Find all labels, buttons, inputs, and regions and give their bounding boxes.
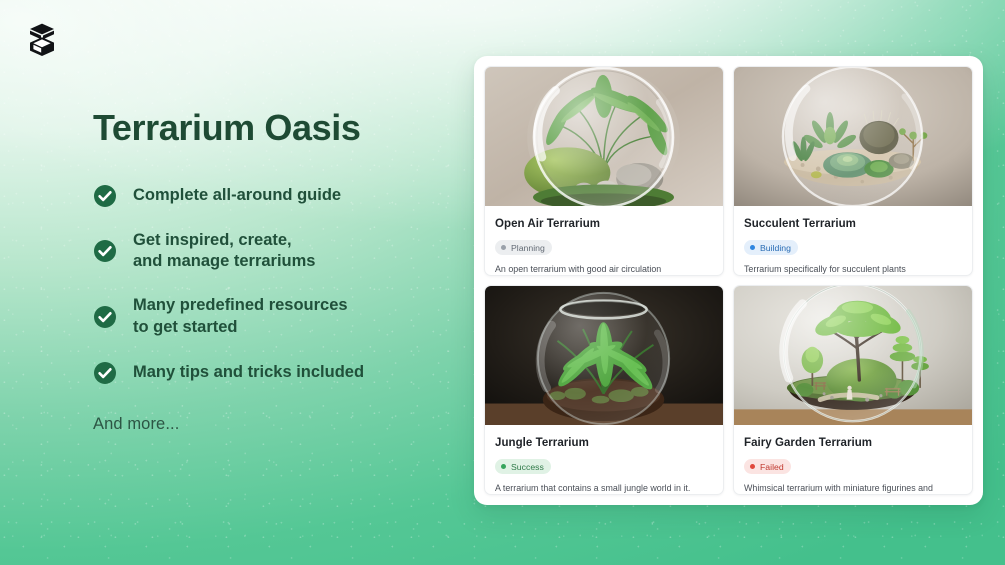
status-label: Failed xyxy=(760,462,784,472)
status-row: Failed xyxy=(744,456,962,474)
status-label: Building xyxy=(760,243,791,253)
stacked-box-logo xyxy=(27,23,57,57)
card-body: Fairy Garden Terrarium Failed Whimsical … xyxy=(734,428,972,495)
status-row: Success xyxy=(495,456,713,474)
succulent-terrarium-photo xyxy=(734,67,972,209)
card-description: Whimsical terrarium with miniature figur… xyxy=(744,482,962,495)
feature-label: Complete all-around guide xyxy=(133,185,341,207)
check-circle-icon xyxy=(93,305,117,329)
feature-item-1: Complete all-around guide xyxy=(93,184,453,208)
slide-canvas: Terrarium Oasis Complete all-around guid… xyxy=(0,0,1005,565)
card-title: Fairy Garden Terrarium xyxy=(744,437,962,449)
status-dot-icon xyxy=(501,245,506,250)
feature-item-2: Get inspired, create, and manage terrari… xyxy=(93,230,453,274)
fairy-garden-terrarium-photo xyxy=(734,286,972,428)
card-description: Terrarium specifically for succulent pla… xyxy=(744,263,962,275)
status-row: Building xyxy=(744,237,962,255)
status-dot-icon xyxy=(750,245,755,250)
terrarium-cards-panel: Open Air Terrarium Planning An open terr… xyxy=(474,56,983,505)
page-title: Terrarium Oasis xyxy=(93,108,453,148)
card-body: Succulent Terrarium Building Terrarium s… xyxy=(734,209,972,276)
terrarium-card[interactable]: Succulent Terrarium Building Terrarium s… xyxy=(733,66,973,276)
jungle-terrarium-photo xyxy=(485,286,723,428)
hero-copy: Terrarium Oasis Complete all-around guid… xyxy=(93,108,453,434)
check-circle-icon xyxy=(93,184,117,208)
terrarium-card[interactable]: Open Air Terrarium Planning An open terr… xyxy=(484,66,724,276)
card-title: Open Air Terrarium xyxy=(495,218,713,230)
status-dot-icon xyxy=(750,464,755,469)
status-badge: Failed xyxy=(744,459,791,474)
card-description: A terrarium that contains a small jungle… xyxy=(495,482,713,494)
status-row: Planning xyxy=(495,237,713,255)
feature-item-4: Many tips and tricks included xyxy=(93,361,453,385)
and-more-text: And more... xyxy=(93,415,453,434)
card-title: Jungle Terrarium xyxy=(495,437,713,449)
status-badge: Planning xyxy=(495,240,552,255)
check-circle-icon xyxy=(93,239,117,263)
check-circle-icon xyxy=(93,361,117,385)
feature-list: Complete all-around guide Get inspired, … xyxy=(93,184,453,385)
card-title: Succulent Terrarium xyxy=(744,218,962,230)
status-label: Success xyxy=(511,462,544,472)
feature-item-3: Many predefined resources to get started xyxy=(93,295,453,339)
card-grid: Open Air Terrarium Planning An open terr… xyxy=(484,66,973,495)
card-body: Jungle Terrarium Success A terrarium tha… xyxy=(485,428,723,495)
terrarium-card[interactable]: Fairy Garden Terrarium Failed Whimsical … xyxy=(733,285,973,495)
feature-label: Many tips and tricks included xyxy=(133,362,364,384)
feature-label: Many predefined resources to get started xyxy=(133,295,348,339)
card-body: Open Air Terrarium Planning An open terr… xyxy=(485,209,723,276)
status-dot-icon xyxy=(501,464,506,469)
status-badge: Success xyxy=(495,459,551,474)
status-label: Planning xyxy=(511,243,545,253)
status-badge: Building xyxy=(744,240,798,255)
feature-label: Get inspired, create, and manage terrari… xyxy=(133,230,315,274)
open-air-terrarium-photo xyxy=(485,67,723,209)
card-description: An open terrarium with good air circulat… xyxy=(495,263,713,275)
terrarium-card[interactable]: Jungle Terrarium Success A terrarium tha… xyxy=(484,285,724,495)
